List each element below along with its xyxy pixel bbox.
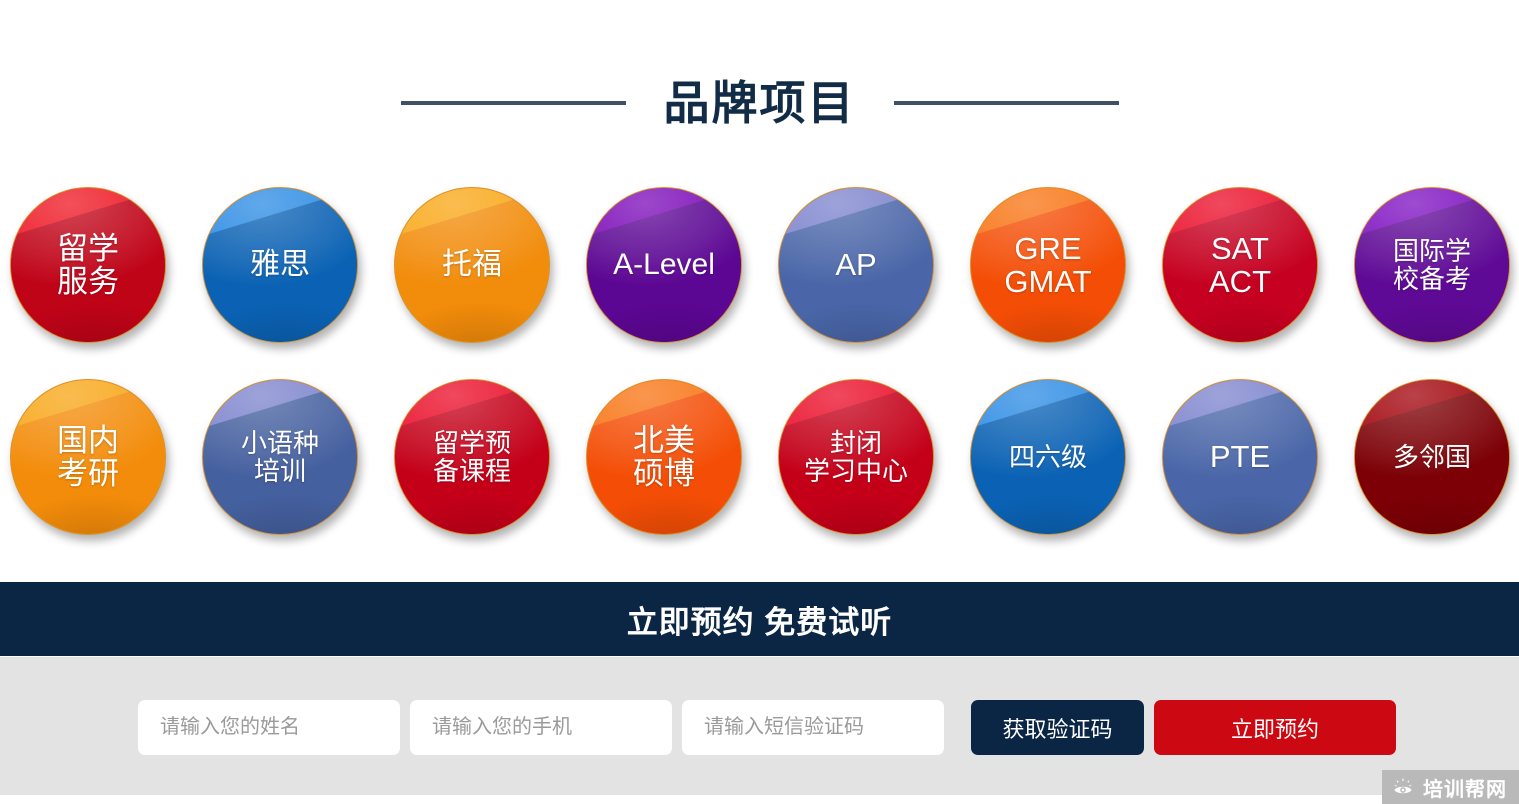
program-label: 国际学 校备考 [1387, 237, 1477, 293]
submit-booking-button[interactable]: 立即预约 [1154, 700, 1396, 755]
program-label: PTE [1204, 440, 1276, 473]
program-label: 北美 硕博 [627, 424, 701, 491]
program-bubble[interactable]: 多邻国 [1354, 379, 1510, 535]
page-title: 品牌项目 [664, 80, 856, 126]
program-bubble[interactable]: GRE GMAT [970, 187, 1126, 343]
heading-rule-right [894, 101, 1119, 105]
program-bubble[interactable]: AP [778, 187, 934, 343]
program-label: 多邻国 [1387, 443, 1477, 471]
program-bubble[interactable]: SAT ACT [1162, 187, 1318, 343]
program-bubble[interactable]: 小语种 培训 [202, 379, 358, 535]
name-input[interactable] [138, 700, 400, 755]
site-watermark: 培训帮网 [1382, 770, 1519, 804]
program-bubble[interactable]: 托福 [394, 187, 550, 343]
program-label: GRE GMAT [998, 232, 1097, 299]
program-row-1: 留学 服务 雅思 托福 A-Level AP GRE GMAT SAT ACT … [10, 187, 1519, 379]
program-bubble[interactable]: PTE [1162, 379, 1318, 535]
sms-code-input[interactable] [682, 700, 944, 755]
program-bubble[interactable]: 封闭 学习中心 [778, 379, 934, 535]
program-bubble[interactable]: A-Level [586, 187, 742, 343]
program-bubble[interactable]: 留学 服务 [10, 187, 166, 343]
watermark-text: 培训帮网 [1423, 773, 1507, 802]
brand-programs-page: 品牌项目 留学 服务 雅思 托福 A-Level AP GRE GMAT [0, 0, 1519, 804]
section-heading: 品牌项目 [0, 68, 1519, 138]
program-label: 四六级 [1003, 443, 1093, 471]
cta-banner: 立即预约 免费试听 [0, 582, 1519, 656]
program-label: 雅思 [244, 249, 316, 281]
program-bubble[interactable]: 国际学 校备考 [1354, 187, 1510, 343]
program-label: 留学预 备课程 [427, 429, 517, 485]
program-bubble[interactable]: 国内 考研 [10, 379, 166, 535]
eye-sun-icon [1392, 776, 1414, 798]
program-row-2: 国内 考研 小语种 培训 留学预 备课程 北美 硕博 封闭 学习中心 四六级 P… [10, 379, 1519, 571]
get-sms-code-button[interactable]: 获取验证码 [971, 700, 1144, 755]
heading-rule-left [401, 101, 626, 105]
program-label: A-Level [607, 249, 721, 281]
program-grid: 留学 服务 雅思 托福 A-Level AP GRE GMAT SAT ACT … [10, 187, 1519, 571]
program-label: 小语种 培训 [235, 429, 325, 485]
program-bubble[interactable]: 雅思 [202, 187, 358, 343]
program-bubble[interactable]: 留学预 备课程 [394, 379, 550, 535]
program-bubble[interactable]: 北美 硕博 [586, 379, 742, 535]
program-bubble[interactable]: 四六级 [970, 379, 1126, 535]
phone-input[interactable] [410, 700, 672, 755]
program-label: 封闭 学习中心 [798, 429, 914, 485]
program-label: AP [829, 248, 882, 281]
program-label: 国内 考研 [51, 424, 125, 491]
cta-banner-text: 立即预约 免费试听 [627, 597, 893, 642]
program-label: 托福 [436, 249, 508, 281]
booking-form-fields: 获取验证码 立即预约 [138, 700, 1396, 755]
booking-form: 获取验证码 立即预约 [0, 657, 1519, 795]
program-label: 留学 服务 [51, 232, 125, 299]
program-label: SAT ACT [1203, 232, 1277, 299]
